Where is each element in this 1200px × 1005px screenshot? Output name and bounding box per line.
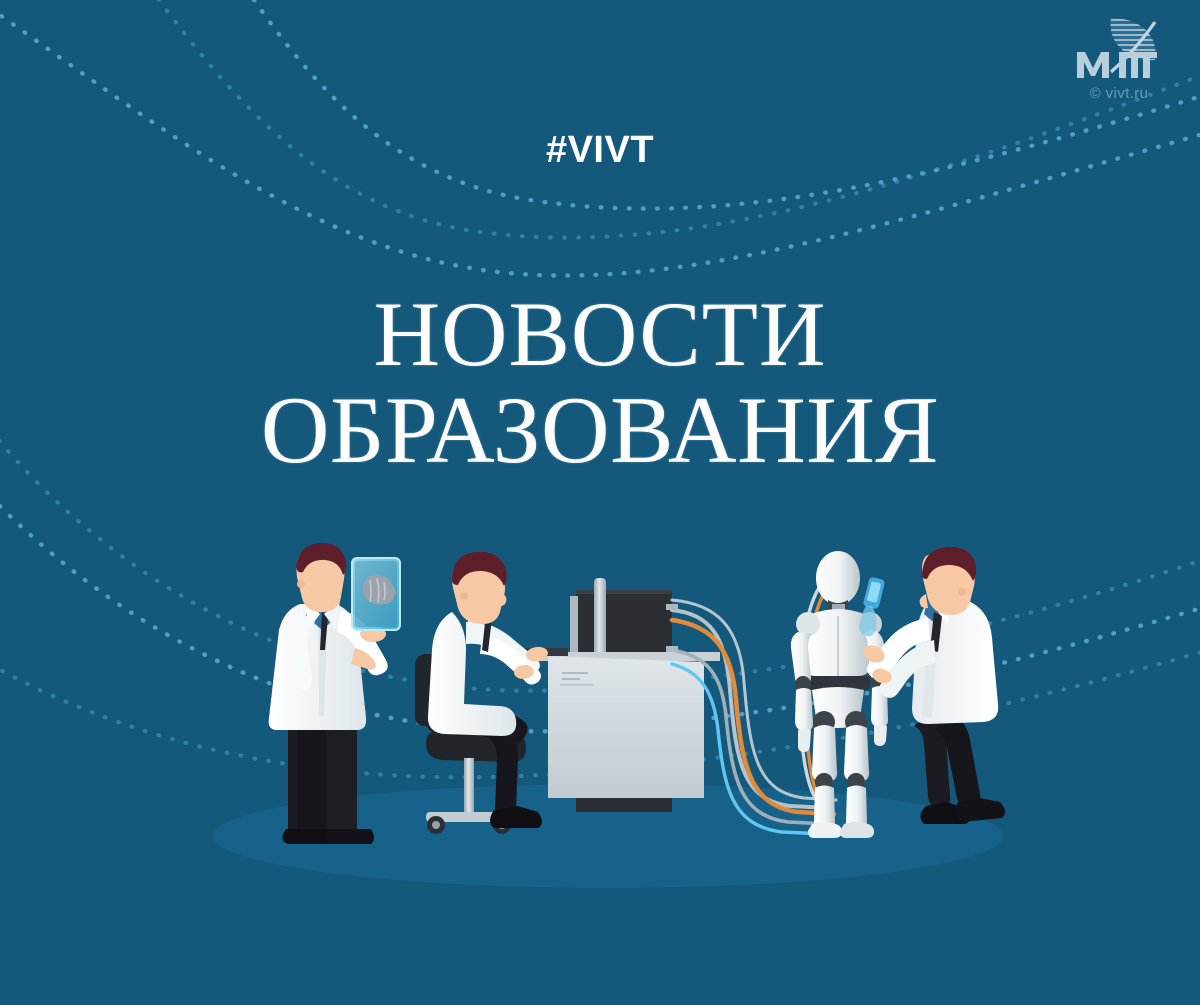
handheld-scanner <box>860 577 886 637</box>
desk-panel <box>548 656 704 798</box>
copyright-label: © vivt.ru <box>1054 85 1184 102</box>
scientist-examining-robot <box>860 547 1005 824</box>
poster-canvas: .dw { fill:none; stroke:#2f81a8; stroke-… <box>0 0 1200 1005</box>
brain-tablet <box>352 558 400 630</box>
brand-logo-block: © vivt.ru <box>1054 14 1184 102</box>
page-title: НОВОСТИ ОБРАЗОВАНИЯ <box>0 288 1200 479</box>
title-line-1: НОВОСТИ <box>0 288 1200 382</box>
title-line-2: ОБРАЗОВАНИЯ <box>0 382 1200 479</box>
hashtag-label: #VIVT <box>0 129 1200 172</box>
vivt-logo-icon <box>1067 14 1171 84</box>
